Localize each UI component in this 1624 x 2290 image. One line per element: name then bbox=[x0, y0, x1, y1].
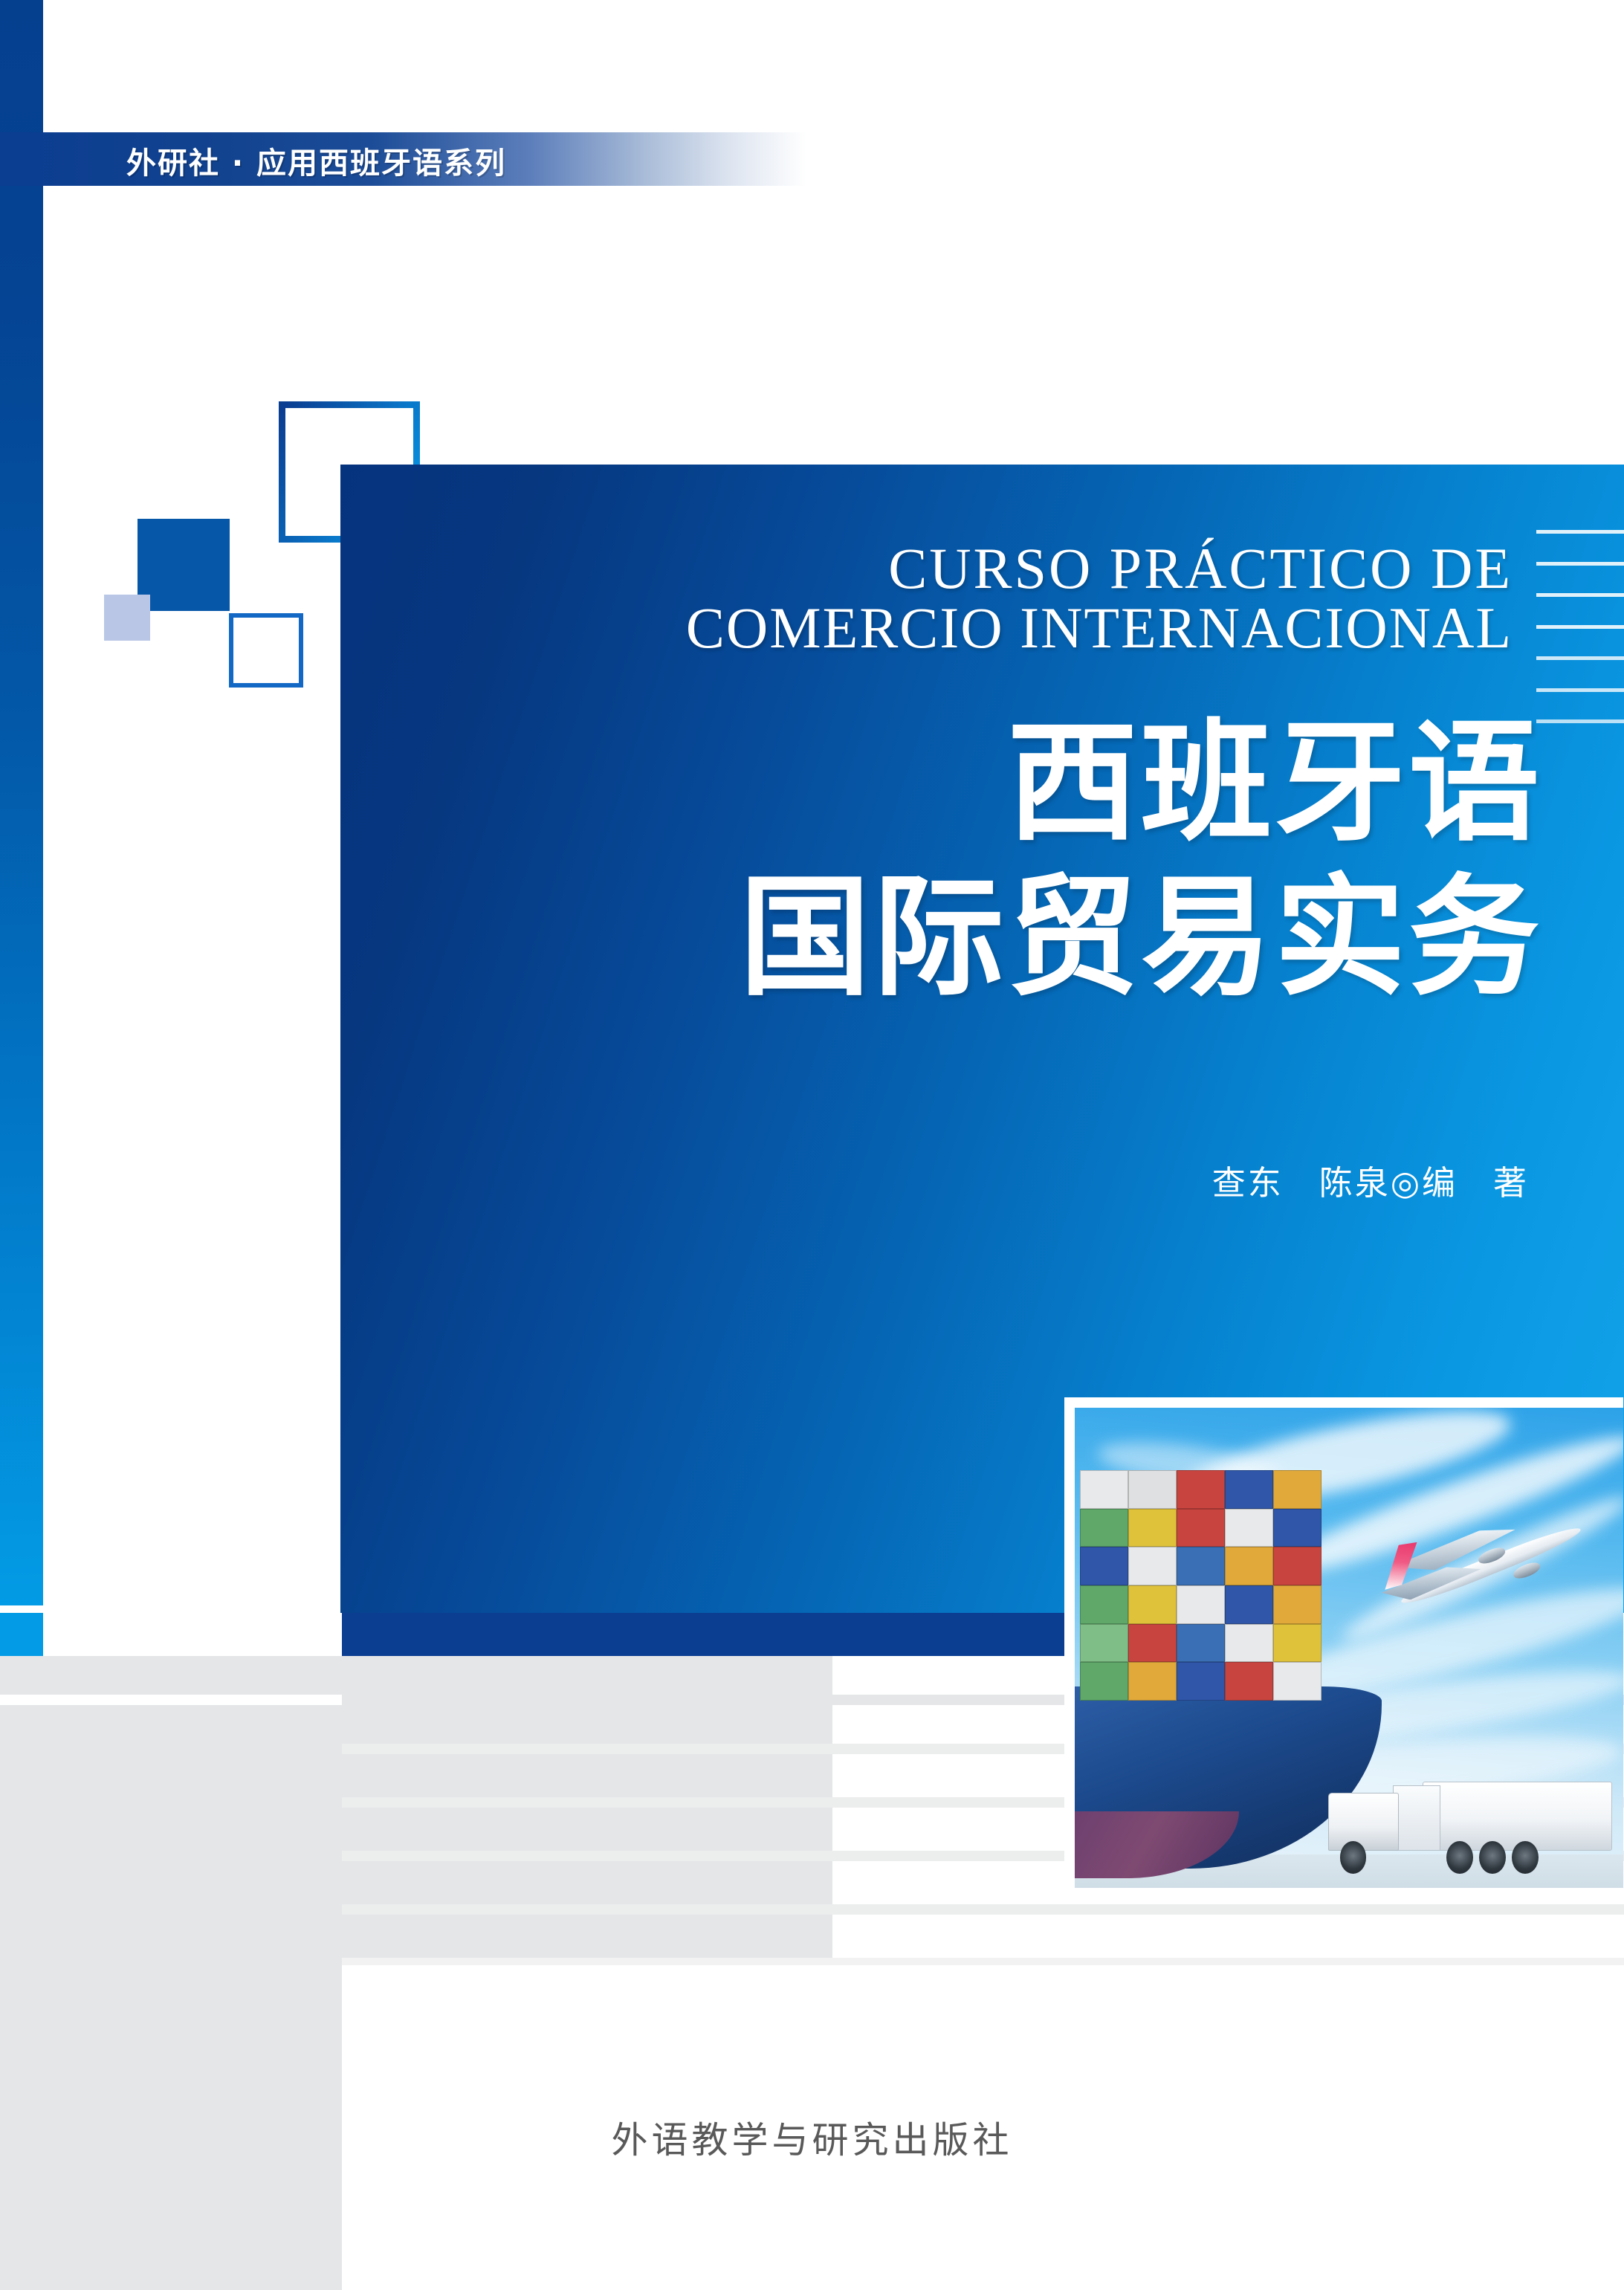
truck-wheel bbox=[1479, 1841, 1506, 1874]
shipping-container bbox=[1128, 1509, 1177, 1547]
hairline bbox=[1536, 656, 1624, 660]
series-banner-cap bbox=[0, 132, 43, 186]
shipping-container bbox=[1128, 1547, 1177, 1585]
cover-photo bbox=[1064, 1397, 1623, 1888]
truck-wheel bbox=[1340, 1841, 1367, 1874]
band-row bbox=[0, 1613, 43, 1656]
truck-body-box bbox=[1393, 1785, 1440, 1851]
truck-trailer bbox=[1423, 1782, 1612, 1851]
shipping-container bbox=[1177, 1470, 1225, 1509]
hairline bbox=[1536, 593, 1624, 597]
band-row bbox=[0, 1915, 832, 1958]
shipping-container bbox=[1080, 1470, 1128, 1509]
shipping-container bbox=[1177, 1585, 1225, 1624]
decor-square-solid-medium bbox=[138, 519, 230, 611]
container-row bbox=[1080, 1585, 1321, 1624]
decor-square-outline-small bbox=[229, 613, 303, 688]
shipping-container bbox=[1225, 1585, 1273, 1624]
shipping-container bbox=[1225, 1662, 1273, 1701]
shipping-container bbox=[1273, 1470, 1321, 1509]
shipping-container bbox=[1177, 1624, 1225, 1663]
shipping-container bbox=[1225, 1470, 1273, 1509]
shipping-container bbox=[1177, 1547, 1225, 1585]
author-credit: 查东 陈泉◎编 著 bbox=[340, 1156, 1529, 1204]
container-row bbox=[1080, 1547, 1321, 1585]
shipping-container bbox=[1273, 1585, 1321, 1624]
shipping-container bbox=[1273, 1547, 1321, 1585]
shipping-container bbox=[1177, 1509, 1225, 1547]
shipping-container bbox=[1273, 1624, 1321, 1663]
truck-wheel bbox=[1512, 1841, 1539, 1874]
band-row bbox=[342, 1958, 1624, 1965]
publisher-name: 外语教学与研究出版社 bbox=[0, 2111, 1624, 2164]
band-left-column bbox=[0, 1656, 342, 2290]
hairline bbox=[1536, 688, 1624, 692]
shipping-container bbox=[1273, 1509, 1321, 1547]
shipping-container bbox=[1225, 1509, 1273, 1547]
decor-square-pale-small bbox=[104, 595, 150, 641]
shipping-container bbox=[1080, 1662, 1128, 1701]
band-row bbox=[0, 1656, 832, 1695]
shipping-container bbox=[1080, 1509, 1128, 1547]
band-row bbox=[342, 1613, 1130, 1656]
hairline bbox=[1536, 625, 1624, 629]
shipping-container bbox=[1080, 1624, 1128, 1663]
shipping-container bbox=[1128, 1624, 1177, 1663]
shipping-container bbox=[1225, 1624, 1273, 1663]
shipping-container bbox=[1080, 1547, 1128, 1585]
shipping-container bbox=[1273, 1662, 1321, 1701]
truck-cab bbox=[1328, 1793, 1400, 1851]
truck-wheel bbox=[1446, 1841, 1473, 1874]
chinese-title-line2: 国际贸易实务 bbox=[340, 861, 1542, 1015]
photo-scene bbox=[1075, 1408, 1623, 1888]
chinese-title-line1: 西班牙语 bbox=[340, 706, 1542, 861]
shipping-container bbox=[1128, 1585, 1177, 1624]
delivery-truck bbox=[1316, 1777, 1613, 1873]
band-row bbox=[0, 1808, 832, 1851]
cargo-airplane bbox=[1376, 1504, 1596, 1619]
container-row bbox=[1080, 1662, 1321, 1701]
left-gradient-spine bbox=[0, 0, 43, 1605]
series-banner-label: 外研社 · 应用西班牙语系列 bbox=[126, 138, 506, 183]
shipping-container bbox=[1177, 1662, 1225, 1701]
shipping-container bbox=[1225, 1547, 1273, 1585]
edge-hairlines bbox=[1536, 530, 1624, 723]
spanish-title: CURSO PRÁCTICO DE COMERCIO INTERNACIONAL bbox=[340, 539, 1513, 657]
chinese-title: 西班牙语 国际贸易实务 bbox=[340, 706, 1542, 1015]
band-row bbox=[342, 1904, 1624, 1915]
shipping-container bbox=[1128, 1662, 1177, 1701]
book-cover: 外研社 · 应用西班牙语系列 CURSO PRÁCTICO DE COMERCI… bbox=[0, 0, 1624, 2290]
hairline bbox=[1536, 719, 1624, 723]
shipping-container bbox=[1128, 1470, 1177, 1509]
band-row bbox=[0, 1754, 832, 1797]
hairline bbox=[1536, 562, 1624, 566]
hairline bbox=[1536, 530, 1624, 534]
shipping-container bbox=[1080, 1585, 1128, 1624]
spanish-title-line2: COMERCIO INTERNACIONAL bbox=[340, 598, 1513, 658]
container-row bbox=[1080, 1470, 1321, 1509]
container-stack bbox=[1080, 1470, 1321, 1701]
container-row bbox=[1080, 1624, 1321, 1663]
band-row bbox=[0, 1861, 832, 1904]
band-row bbox=[0, 1705, 832, 1744]
container-row bbox=[1080, 1509, 1321, 1547]
spanish-title-line1: CURSO PRÁCTICO DE bbox=[888, 536, 1513, 601]
